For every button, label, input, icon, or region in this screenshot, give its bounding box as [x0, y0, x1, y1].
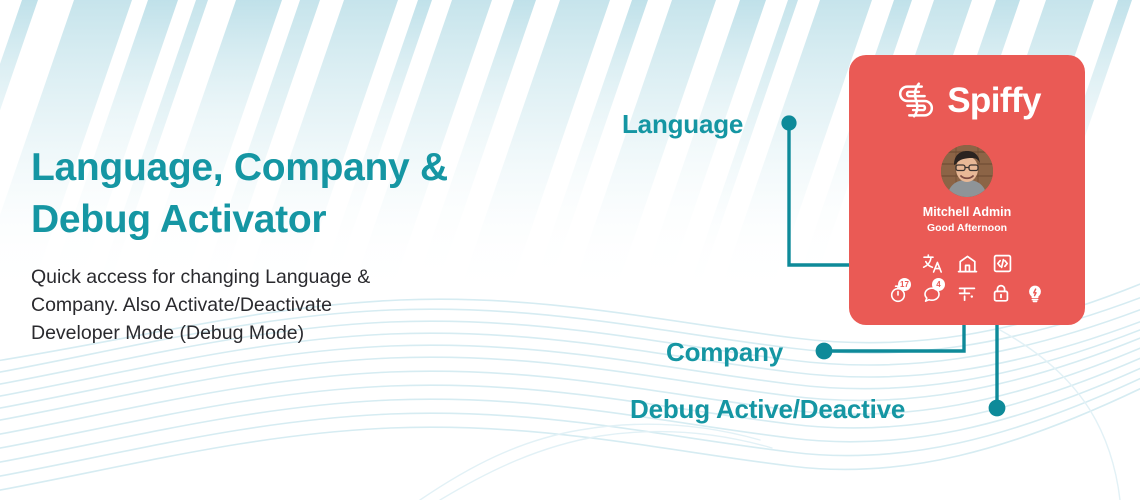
page-description: Quick access for changing Language & Com…	[31, 263, 481, 347]
card-brand: Spiffy	[849, 77, 1085, 123]
lightbulb-idea-icon[interactable]	[1025, 283, 1045, 303]
callout-label-debug: Debug Active/Deactive	[630, 394, 905, 425]
promo-banner: Spiffy Mitchell Admin Good Afternoon	[0, 0, 1140, 500]
headline-line-1: Language, Company &	[31, 146, 448, 189]
description-line-3: Developer Mode (Debug Mode)	[31, 319, 481, 347]
user-name: Mitchell Admin	[849, 205, 1085, 219]
company-building-icon[interactable]	[957, 253, 977, 273]
badge-count: 17	[898, 278, 911, 291]
spiffy-user-card: Spiffy Mitchell Admin Good Afternoon	[849, 55, 1085, 325]
settings-sliders-icon[interactable]	[957, 283, 977, 303]
badge-count: 4	[932, 278, 945, 291]
code-debug-icon[interactable]	[992, 253, 1012, 273]
user-greeting: Good Afternoon	[849, 222, 1085, 234]
brand-name: Spiffy	[947, 83, 1041, 118]
spiffy-paperclip-s-logo-icon	[893, 77, 939, 123]
card-primary-icon-row	[849, 253, 1085, 273]
callout-label-company: Company	[666, 337, 783, 368]
description-line-2: Company. Also Activate/Deactivate	[31, 291, 481, 319]
stopwatch-timer-icon[interactable]: 17	[889, 283, 909, 303]
page-title: Language, Company & Debug Activator	[31, 142, 551, 246]
headline-line-2: Debug Activator	[31, 194, 551, 246]
translate-language-icon[interactable]	[922, 253, 942, 273]
lock-icon[interactable]	[991, 283, 1011, 303]
callout-label-language: Language	[622, 109, 743, 140]
chat-bubble-icon[interactable]: 4	[923, 283, 943, 303]
avatar	[941, 145, 993, 197]
user-avatar-photo-icon	[941, 145, 993, 197]
description-line-1: Quick access for changing Language &	[31, 263, 481, 291]
card-secondary-icon-row: 17 4	[849, 283, 1085, 303]
